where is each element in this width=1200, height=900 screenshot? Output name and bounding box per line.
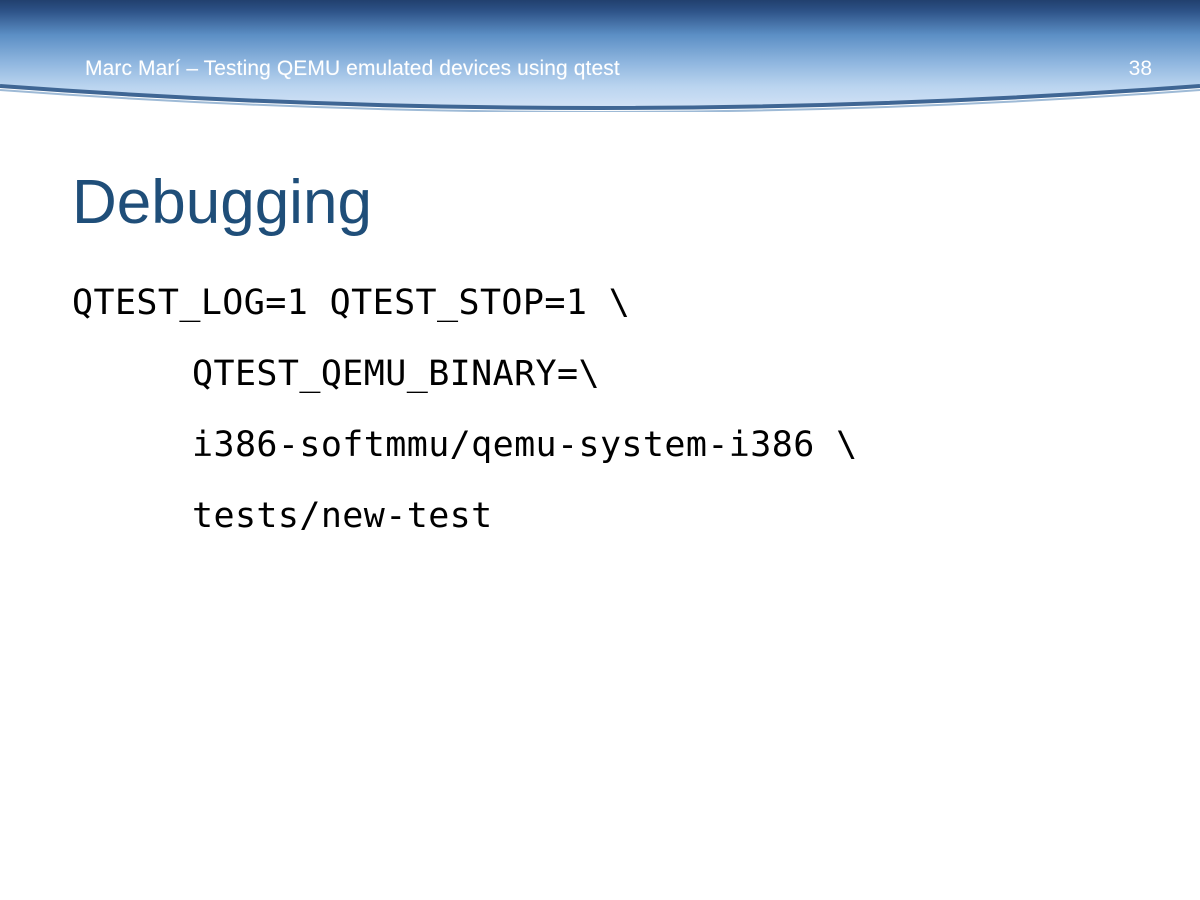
page-title: Debugging (72, 166, 372, 240)
code-line: i386-softmmu/qemu-system-i386 \ (72, 410, 1172, 481)
code-line: tests/new-test (72, 481, 1172, 552)
code-line: QTEST_LOG=1 QTEST_STOP=1 \ (72, 268, 1172, 339)
code-line: QTEST_QEMU_BINARY=\ (72, 339, 1172, 410)
header-banner-shape (0, 0, 1200, 112)
slide-header-banner: Marc Marí – Testing QEMU emulated device… (0, 0, 1200, 112)
code-block: QTEST_LOG=1 QTEST_STOP=1 \ QTEST_QEMU_BI… (72, 268, 1172, 552)
presentation-slide: Marc Marí – Testing QEMU emulated device… (0, 0, 1200, 900)
header-gradient-fill (0, 0, 1200, 108)
